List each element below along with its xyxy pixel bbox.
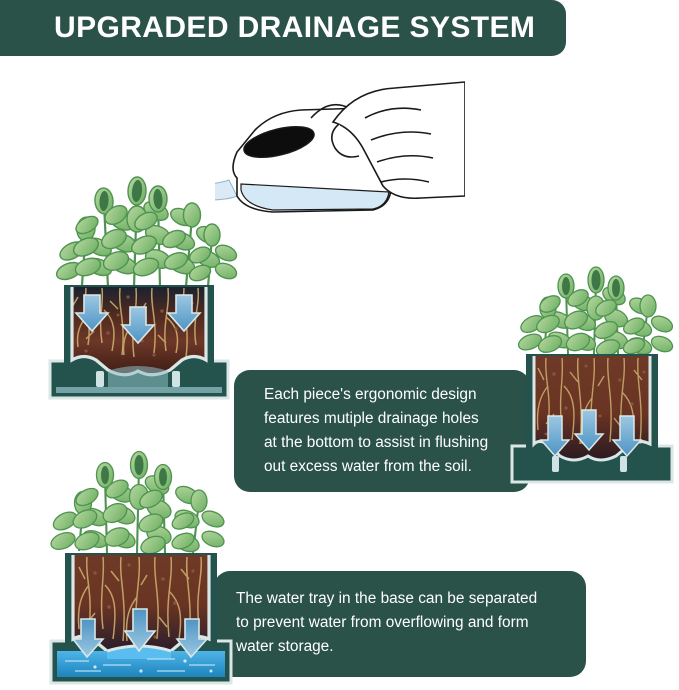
header-banner: UPGRADED DRAINAGE SYSTEM (0, 0, 566, 56)
callout-water-tray: The water tray in the base can be separa… (214, 571, 586, 677)
callout-1-line-3: at the bottom to assist in flushing (264, 431, 514, 455)
callout-2-line-1: The water tray in the base can be separa… (236, 587, 570, 611)
plant-foliage (49, 452, 227, 557)
callout-2-line-3: water storage. (236, 635, 570, 659)
plant-foliage (54, 177, 239, 287)
page-title: UPGRADED DRAINAGE SYSTEM (54, 11, 535, 45)
planter-cross-section-reservoir (45, 443, 245, 688)
planter-cross-section-draining (508, 268, 679, 496)
plant-foliage (516, 267, 675, 359)
callout-1-line-1: Each piece's ergonomic design (264, 383, 514, 407)
callout-1-line-2: features mutiple drainage holes (264, 407, 514, 431)
callout-1-line-4: out excess water from the soil. (264, 455, 514, 479)
callout-2-line-2: to prevent water from overflowing and fo… (236, 611, 570, 635)
callout-drainage-holes: Each piece's ergonomic design features m… (234, 370, 530, 492)
hand-pouring-watering-can (215, 78, 465, 283)
infographic-canvas: UPGRADED DRAINAGE SYSTEM (0, 0, 679, 690)
planter-cross-section-watering (42, 155, 242, 405)
